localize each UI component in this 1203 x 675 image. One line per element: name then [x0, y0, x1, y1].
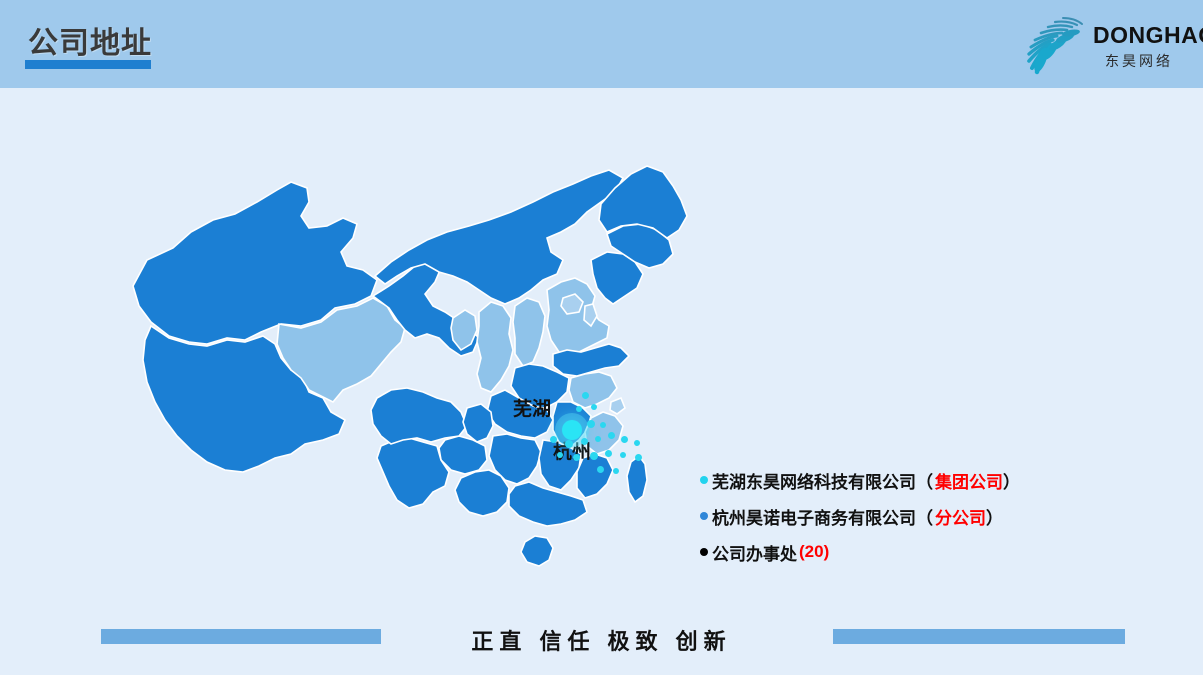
- legend-item-label: 公司办事处: [712, 540, 797, 565]
- province-jiangsu: [569, 372, 617, 408]
- province-shanghai: [610, 398, 625, 414]
- map-marker-office[interactable]: [605, 450, 612, 457]
- china-map: 芜湖 杭州: [95, 140, 715, 610]
- map-marker-office[interactable]: [635, 454, 642, 461]
- map-marker-office[interactable]: [620, 452, 626, 458]
- map-marker-office[interactable]: [595, 436, 601, 442]
- legend-item-branch-company: 杭州昊诺电子商务有限公司（分公司）: [700, 498, 1030, 534]
- legend-item-tag: (20): [799, 542, 829, 562]
- legend-item-tag: 分公司: [935, 504, 986, 529]
- map-marker-office[interactable]: [581, 438, 588, 445]
- legend-bullet-icon: [700, 512, 708, 520]
- province-shaanxi: [477, 302, 513, 392]
- legend-bullet-icon: [700, 476, 708, 484]
- province-shanxi: [513, 298, 545, 366]
- legend-item-label: 芜湖东昊网络科技有限公司（: [712, 468, 933, 493]
- legend-item-group-company: 芜湖东昊网络科技有限公司（集团公司）: [700, 462, 1030, 498]
- legend: 芜湖东昊网络科技有限公司（集团公司） 杭州昊诺电子商务有限公司（分公司） 公司办…: [700, 462, 1030, 570]
- footer-bar-right: [833, 629, 1125, 644]
- province-yunnan: [377, 438, 449, 508]
- logo-subtitle: 东昊网络: [1105, 51, 1173, 71]
- company-logo: DONGHAO 东昊网络: [1017, 8, 1189, 80]
- map-marker-office[interactable]: [565, 440, 573, 448]
- legend-item-tail: ）: [986, 504, 1003, 529]
- map-marker-office[interactable]: [587, 420, 595, 428]
- map-marker-office[interactable]: [591, 404, 597, 410]
- legend-bullet-icon: [700, 548, 708, 556]
- logo-wordmark: DONGHAO: [1093, 22, 1203, 49]
- province-guangxi: [455, 470, 509, 516]
- map-marker-office[interactable]: [590, 452, 598, 460]
- legend-item-tag: 集团公司: [935, 468, 1003, 493]
- map-marker-office[interactable]: [557, 452, 563, 458]
- province-guangdong: [509, 482, 587, 526]
- map-marker-office[interactable]: [550, 436, 557, 443]
- map-marker-wuhu-main[interactable]: [562, 420, 582, 440]
- map-marker-office[interactable]: [621, 436, 628, 443]
- province-chongqing: [463, 404, 493, 442]
- title-underline: [25, 60, 151, 69]
- map-marker-office[interactable]: [582, 392, 589, 399]
- province-sichuan: [371, 388, 467, 444]
- map-marker-office[interactable]: [573, 454, 580, 461]
- province-taiwan: [627, 456, 647, 502]
- legend-item-tail: ）: [1003, 468, 1020, 493]
- fan-feather-icon: [1017, 10, 1091, 78]
- map-marker-office[interactable]: [597, 466, 604, 473]
- page-title: 公司地址: [28, 18, 152, 62]
- map-marker-office[interactable]: [613, 468, 619, 474]
- province-hainan: [521, 536, 553, 566]
- map-marker-office[interactable]: [576, 406, 582, 412]
- legend-item-label: 杭州昊诺电子商务有限公司（: [712, 504, 933, 529]
- map-marker-office[interactable]: [600, 422, 606, 428]
- map-marker-office[interactable]: [634, 440, 640, 446]
- map-marker-office[interactable]: [608, 432, 615, 439]
- map-label-wuhu: 芜湖: [513, 394, 551, 421]
- china-map-svg: [95, 140, 715, 610]
- page-header: 公司地址 DONGHAO: [0, 0, 1203, 88]
- legend-item-offices: 公司办事处(20): [700, 534, 1030, 570]
